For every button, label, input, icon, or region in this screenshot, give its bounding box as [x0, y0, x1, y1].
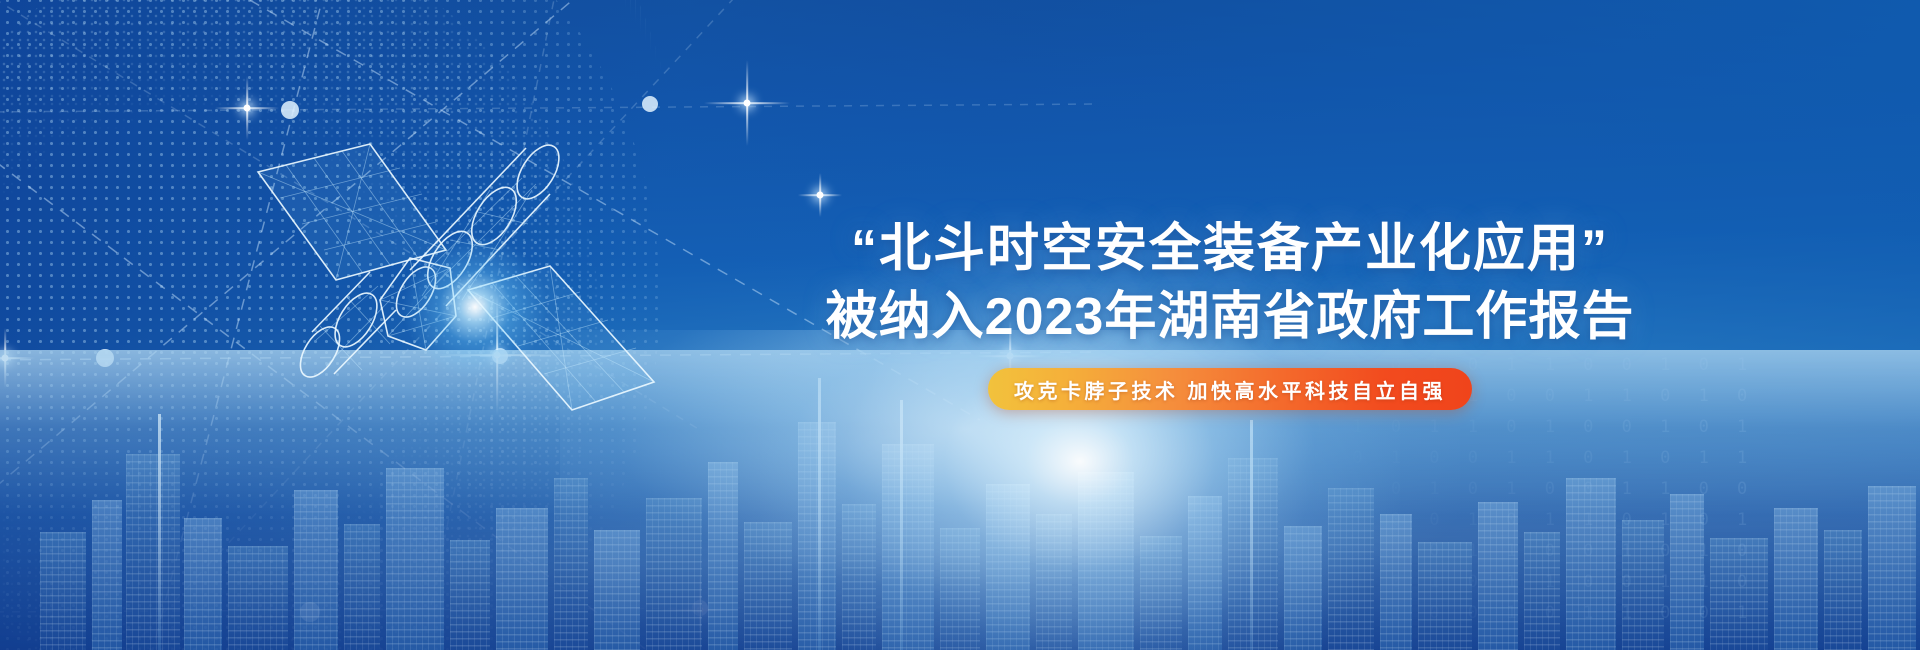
- satellite-module-left-icon: [292, 272, 396, 384]
- headline-line-1: “北斗时空安全装备产业化应用”: [640, 218, 1820, 280]
- banner-root: 0 1 0 0 1 1 0 1 0 1 1 0 0 1 0 1 1 0 1 1 …: [0, 0, 1920, 650]
- headline-line-2: 被纳入2023年湖南省政府工作报告: [640, 286, 1820, 348]
- satellite-core-glow: [400, 232, 550, 382]
- headline-block: “北斗时空安全装备产业化应用” 被纳入2023年湖南省政府工作报告 攻克卡脖子技…: [640, 218, 1820, 410]
- page-title: “北斗时空安全装备产业化应用” 被纳入2023年湖南省政府工作报告: [640, 218, 1820, 348]
- satellite-graphic: [250, 120, 670, 420]
- badge-container: 攻克卡脖子技术 加快高水平科技自立自强: [640, 368, 1820, 410]
- slogan-badge[interactable]: 攻克卡脖子技术 加快高水平科技自立自强: [988, 368, 1472, 410]
